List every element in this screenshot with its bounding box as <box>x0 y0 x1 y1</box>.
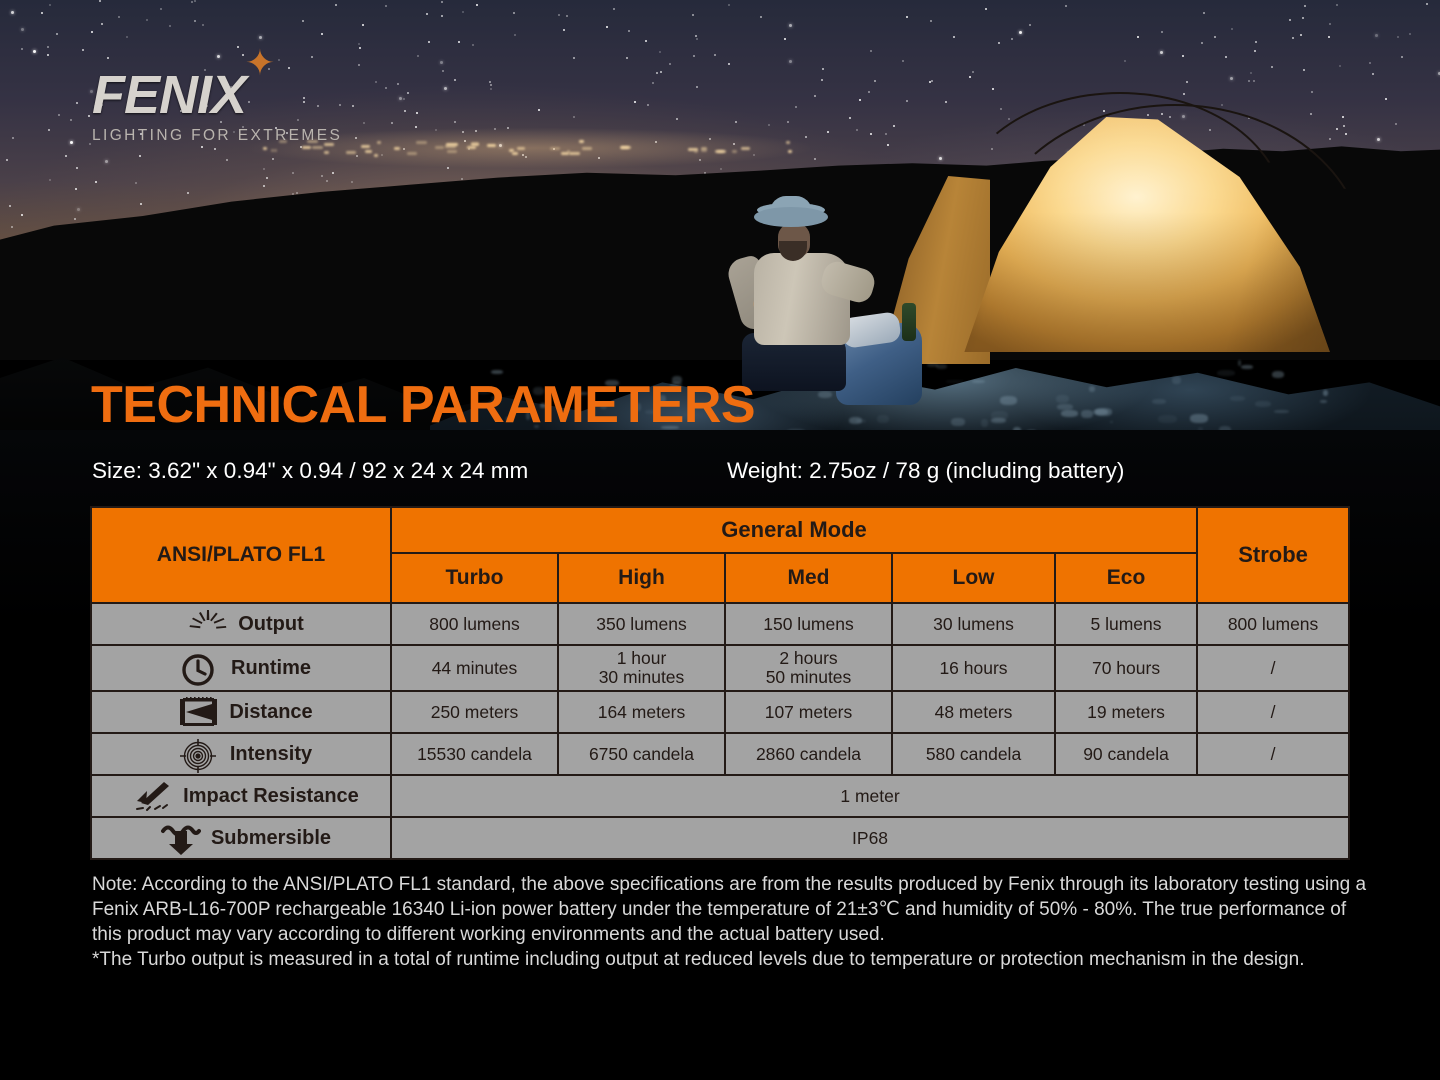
cell-intensity-turbo: 15530 candela <box>391 733 558 775</box>
table-row: Output800 lumens350 lumens150 lumens30 l… <box>91 603 1349 645</box>
mode-header-high: High <box>558 553 725 603</box>
cell-intensity-strobe: / <box>1197 733 1349 775</box>
row-label-impact-resistance: Impact Resistance <box>91 775 391 817</box>
cell-runtime-low: 16 hours <box>892 645 1055 691</box>
cell-runtime-high: 1 hour30 minutes <box>558 645 725 691</box>
cell-output-turbo: 800 lumens <box>391 603 558 645</box>
row-label-runtime: Runtime <box>91 645 391 691</box>
page-title: TECHNICAL PARAMETERS <box>91 379 755 431</box>
row-label-text: Intensity <box>230 743 312 766</box>
mode-header-med: Med <box>725 553 892 603</box>
cell-runtime-strobe: / <box>1197 645 1349 691</box>
row-label-intensity: Intensity <box>91 733 391 775</box>
strobe-header: Strobe <box>1197 507 1349 603</box>
row-label-text: Submersible <box>211 827 331 850</box>
cell-distance-low: 48 meters <box>892 691 1055 733</box>
fenix-logo: ✦ FENIX LIGHTING FOR EXTREMES <box>92 68 422 145</box>
mode-header-low: Low <box>892 553 1055 603</box>
clock-icon <box>181 653 223 683</box>
table-row: SubmersibleIP68 <box>91 817 1349 859</box>
cell-intensity-med: 2860 candela <box>725 733 892 775</box>
footnote-line-1: Note: According to the ANSI/PLATO FL1 st… <box>92 872 1367 947</box>
camper-figure <box>726 205 896 390</box>
cell-submersible-value: IP68 <box>391 817 1349 859</box>
cell-distance-med: 107 meters <box>725 691 892 733</box>
weight-spec: Weight: 2.75oz / 78 g (including battery… <box>727 458 1124 484</box>
cell-output-med: 150 lumens <box>725 603 892 645</box>
row-label-text: Distance <box>229 701 312 724</box>
size-spec: Size: 3.62" x 0.94" x 0.94 / 92 x 24 x 2… <box>92 458 528 484</box>
table-row: Distance250 meters164 meters107 meters48… <box>91 691 1349 733</box>
cell-distance-strobe: / <box>1197 691 1349 733</box>
bottle <box>902 303 916 341</box>
cell-distance-turbo: 250 meters <box>391 691 558 733</box>
cell-intensity-low: 580 candela <box>892 733 1055 775</box>
cell-distance-eco: 19 meters <box>1055 691 1197 733</box>
cell-output-eco: 5 lumens <box>1055 603 1197 645</box>
general-mode-header: General Mode <box>391 507 1197 553</box>
star-icon: ✦ <box>243 46 277 80</box>
table-row: Impact Resistance1 meter <box>91 775 1349 817</box>
cell-impact-resistance-value: 1 meter <box>391 775 1349 817</box>
cell-output-low: 30 lumens <box>892 603 1055 645</box>
cell-distance-high: 164 meters <box>558 691 725 733</box>
row-label-distance: Distance <box>91 691 391 733</box>
mode-header-eco: Eco <box>1055 553 1197 603</box>
technical-parameters-table: ANSI/PLATO FL1 General Mode Strobe Turbo… <box>90 506 1350 860</box>
camper-hat-brim <box>754 207 828 227</box>
table-row: Intensity15530 candela6750 candela2860 c… <box>91 733 1349 775</box>
row-label-submersible: Submersible <box>91 817 391 859</box>
cell-intensity-eco: 90 candela <box>1055 733 1197 775</box>
brand-tagline: LIGHTING FOR EXTREMES <box>92 127 422 145</box>
row-label-output: Output <box>91 603 391 645</box>
footnote: Note: According to the ANSI/PLATO FL1 st… <box>92 872 1367 972</box>
cell-output-strobe: 800 lumens <box>1197 603 1349 645</box>
mode-header-turbo: Turbo <box>391 553 558 603</box>
row-label-text: Impact Resistance <box>183 785 359 808</box>
cell-intensity-high: 6750 candela <box>558 733 725 775</box>
cell-runtime-turbo: 44 minutes <box>391 645 558 691</box>
row-label-text: Output <box>238 613 304 636</box>
table-row: Runtime44 minutes1 hour30 minutes2 hours… <box>91 645 1349 691</box>
sunburst-icon <box>188 609 230 639</box>
target-intensity-icon <box>180 739 222 769</box>
table-header-row-1: ANSI/PLATO FL1 General Mode Strobe <box>91 507 1349 553</box>
submersible-icon <box>161 823 203 853</box>
cell-runtime-eco: 70 hours <box>1055 645 1197 691</box>
corner-label: ANSI/PLATO FL1 <box>91 507 391 603</box>
row-label-text: Runtime <box>231 657 311 680</box>
cell-output-high: 350 lumens <box>558 603 725 645</box>
impact-icon <box>133 781 175 811</box>
beam-distance-icon <box>179 697 221 727</box>
cell-runtime-med: 2 hours50 minutes <box>725 645 892 691</box>
footnote-line-2: *The Turbo output is measured in a total… <box>92 947 1367 972</box>
